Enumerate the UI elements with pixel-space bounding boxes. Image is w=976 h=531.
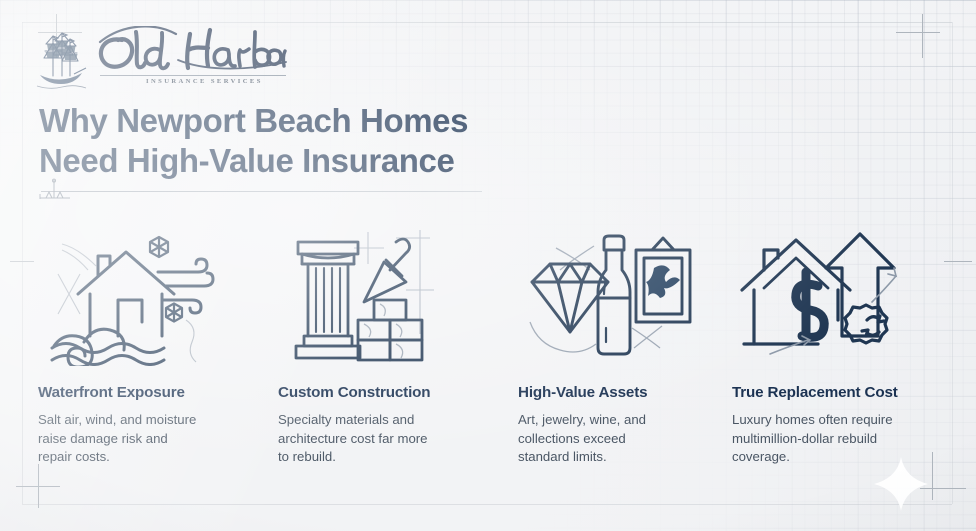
feature-columns: Waterfront Exposure Salt air, wind, and … (0, 222, 976, 482)
feature-body: Salt air, wind, and moisture raise damag… (38, 411, 262, 467)
icon-container (518, 222, 742, 368)
feature-heading: Waterfront Exposure (38, 384, 262, 401)
feature-body: Specialty materials and architecture cos… (278, 411, 502, 467)
sailing-ship-icon (34, 30, 88, 90)
diamond-wine-bottle-framed-art-icon (520, 224, 702, 366)
frame-line-top (22, 22, 952, 23)
brand-script-wordmark (92, 26, 288, 82)
page-title: Why Newport Beach Homes Need High-Value … (39, 101, 559, 181)
brand-tagline: INSURANCE SERVICES (146, 78, 263, 85)
column-trowel-bricks-icon (280, 224, 460, 366)
feature-column-true-replacement-cost: True Replacement Cost Luxury homes often… (732, 222, 956, 467)
feature-heading: True Replacement Cost (732, 384, 956, 401)
corner-mark-top-right (884, 14, 940, 70)
logo-divider-rule (100, 75, 286, 76)
frame-line-bottom (22, 504, 952, 505)
house-dollar-arrow-gear-icon (734, 224, 910, 366)
feature-heading: Custom Construction (278, 384, 502, 401)
slide-canvas: INSURANCE SERVICES Why Newport Beach Hom… (0, 0, 976, 531)
house-wave-wind-snowflake-icon (40, 224, 236, 366)
icon-container (38, 222, 262, 368)
feature-heading: High-Value Assets (518, 384, 742, 401)
brand-logo[interactable]: INSURANCE SERVICES (34, 30, 294, 92)
four-point-sparkle-icon (872, 455, 930, 513)
title-divider-rule (41, 191, 482, 192)
feature-column-waterfront-exposure: Waterfront Exposure Salt air, wind, and … (38, 222, 262, 467)
icon-container (732, 222, 956, 368)
icon-container (278, 222, 502, 368)
feature-column-custom-construction: Custom Construction Specialty materials … (278, 222, 502, 467)
drafting-dimension-mark-icon (36, 178, 80, 202)
feature-body: Art, jewelry, wine, and collections exce… (518, 411, 742, 467)
feature-column-high-value-assets: High-Value Assets Art, jewelry, wine, an… (518, 222, 742, 467)
